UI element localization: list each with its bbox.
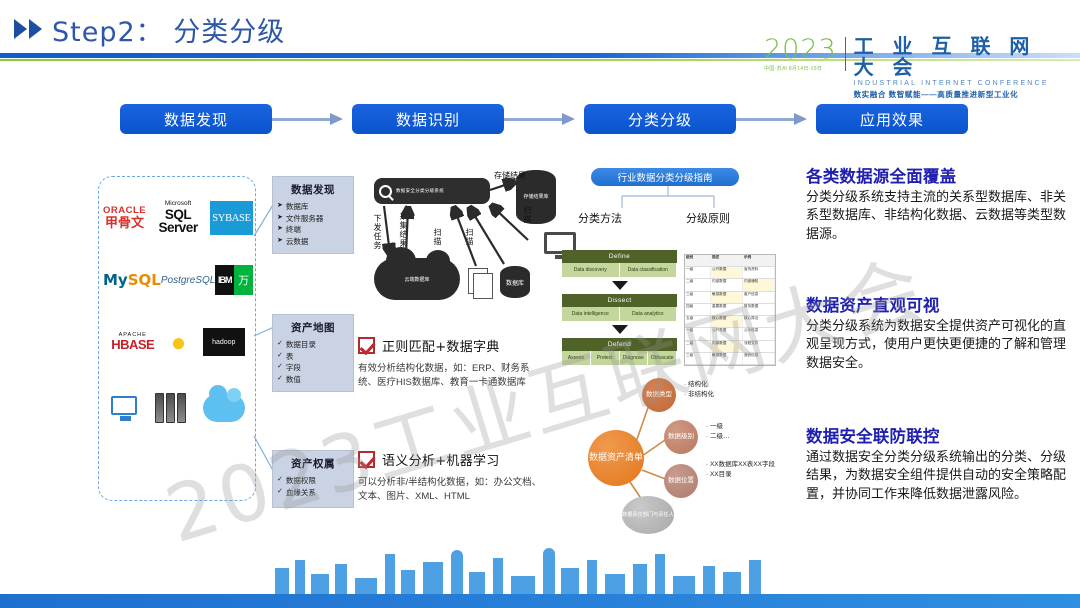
list-item: ✓数值 [277, 374, 349, 386]
box-data-discovery: 数据发现 ➤数据库 ➤文件服务器 ➤终端 ➤云数据 [272, 176, 354, 254]
cloud-icon [203, 394, 245, 422]
data-asset-mindmap: 数据资产清单 数据类型 数据级别 数据位置 数据责任部门与责任人 · 结构化 ·… [580, 372, 780, 542]
table-row: 四级重要数据财务数据 [685, 304, 775, 316]
vendor-logo-grid: ORACLE 甲骨文 Microsoft SQL Server SYBASE M… [103, 187, 253, 443]
hadoop-icon: hadoop [203, 328, 245, 356]
checkbox-icon[interactable] [358, 451, 375, 468]
framework-head: Define [562, 250, 677, 263]
ibm-db2-icon: IBM 万 [215, 265, 253, 295]
check-body: 可以分析非/半结构化数据，如：办公文档、文本、图片、XML、HTML [358, 476, 548, 504]
framework-row-defend: Defend Assess Protect Diagnose Obfuscate [562, 338, 677, 365]
mysql-icon: MySQL [103, 271, 161, 289]
mindmap-node-location: 数据位置 [664, 464, 698, 498]
list-item: ➤数据库 [277, 201, 349, 213]
table-header-row: 级别 描述 示例 [685, 255, 775, 267]
dddd-framework-stack: Define Data discovery Data classificatio… [562, 250, 677, 365]
table-row: 三级敏感数据客户信息 [685, 292, 775, 304]
mindmap-detail-type: · 结构化 · 非结构化 [684, 380, 714, 400]
mindmap-node-type: 数据类型 [642, 378, 676, 412]
box-title: 资产地图 [277, 320, 349, 335]
framework-cell: Assess [562, 351, 591, 365]
list-item: ✓字段 [277, 362, 349, 374]
mindmap-node-owner: 数据责任部门与责任人 [622, 496, 674, 534]
logo-divider [845, 37, 846, 71]
framework-cell: Data discovery [562, 263, 620, 277]
table-row: 二级内部数据内部通知 [685, 279, 775, 291]
logo-cn-name: 工 业 互 联 网 大 会 [854, 36, 1074, 78]
framework-row-define: Define Data discovery Data classificatio… [562, 250, 677, 277]
box-asset-ownership: 资产权属 ✓数据权限 ✓血缘关系 [272, 450, 354, 508]
framework-cell: Diagnose [620, 351, 649, 365]
conference-logo: 2023 中国·苏州 8月14日-15日 工 业 互 联 网 大 会 INDUS… [764, 36, 1074, 76]
flow-step-application-effect[interactable]: 应用效果 [816, 104, 968, 134]
table-row: 三级敏感数据身份信息 [685, 353, 775, 365]
vendor-logo-row: APACHE HBASE ● hadoop [103, 311, 253, 373]
page-footer [0, 544, 1080, 608]
block-body: 分类分级系统支持主流的关系型数据库、非关系型数据库、非结构化数据、云数据等类型数… [806, 189, 1072, 244]
block-heading: 各类数据源全面覆盖 [806, 163, 1072, 187]
vendor-logo-row: ORACLE 甲骨文 Microsoft SQL Server SYBASE [103, 187, 253, 249]
down-arrow-icon [612, 281, 628, 290]
scan-arrows [360, 166, 560, 316]
list-item: ✓数据目录 [277, 339, 349, 351]
column-header: 示例 [743, 255, 775, 266]
framework-cell: Protect [591, 351, 620, 365]
framework-cell: Data classification [620, 263, 678, 277]
table-row: 一级公开数据公示信息 [685, 328, 775, 340]
flow-step-data-identification[interactable]: 数据识别 [352, 104, 504, 134]
guide-label-grading-principle: 分级原则 [686, 210, 730, 226]
framework-cell: Data intelligence [562, 307, 620, 321]
column-header: 描述 [711, 255, 743, 266]
guide-label-classification-method: 分类方法 [578, 210, 622, 226]
column-header: 级别 [685, 255, 711, 266]
box-title: 数据发现 [277, 182, 349, 197]
skyline-graphic [255, 546, 775, 594]
grading-spec-table: 级别 描述 示例 一级公开数据宣传资料 二级内部数据内部通知 三级敏感数据客户信… [684, 254, 776, 366]
mindmap-node-level: 数据级别 [664, 420, 698, 454]
right-block-joint-defense: 数据安全联防联控 通过数据安全分类分级系统输出的分类、分级结果，为数据安全组件提… [806, 423, 1072, 504]
mindmap-detail-location: · XX数据库XX表XX字段 · XX目录 [706, 460, 775, 480]
oracle-icon: ORACLE 甲骨文 [103, 206, 146, 230]
framework-head: Defend [562, 338, 677, 351]
postgresql-icon: PostgreSQL [161, 275, 215, 286]
page-header: Step2： 分类分级 2023 中国·苏州 8月14日-15日 工 业 互 联… [0, 0, 1080, 58]
server-rack-icon [155, 393, 186, 423]
table-row: 二级内部数据流程文件 [685, 341, 775, 353]
framework-head: Dissect [562, 294, 677, 307]
check-item-semantic-ml: 语义分析+机器学习 可以分析非/半结构化数据，如：办公文档、文本、图片、XML、… [358, 450, 548, 504]
sqlserver-icon: Microsoft SQL Server [146, 201, 210, 235]
hbase-icon: APACHE HBASE [111, 333, 154, 352]
framework-row-dissect: Dissect Data intelligence Data analytics [562, 294, 677, 321]
block-body: 分类分级系统为数据安全提供资产可视化的直观呈现方式，使用户更快更便捷的了解和管理… [806, 318, 1072, 373]
list-item: ✓数据权限 [277, 475, 349, 487]
logo-year: 2023 [764, 36, 837, 63]
framework-cell: Obfuscate [648, 351, 677, 365]
list-item: ✓表 [277, 351, 349, 363]
table-row: 一级公开数据宣传资料 [685, 267, 775, 279]
flow-arrow-1 [272, 116, 352, 123]
block-body: 通过数据安全分类分级系统输出的分类、分级结果，为数据安全组件提供自动的安全策略配… [806, 449, 1072, 504]
mindmap-center: 数据资产清单 [588, 430, 644, 486]
play-triangle-icon [14, 16, 48, 42]
checkbox-icon[interactable] [358, 337, 375, 354]
block-heading: 数据安全联防联控 [806, 423, 1072, 447]
box-asset-map: 资产地图 ✓数据目录 ✓表 ✓字段 ✓数值 [272, 314, 354, 392]
check-item-regex-dictionary: 正则匹配+数据字典 有效分析结构化数据，如：ERP、财务系统、医疗HIS数据库、… [358, 336, 548, 390]
scan-architecture-diagram: 数据安全分类分级系统 存储结果库 云端数据库 数据库 存储结果 下发任务 采集结… [360, 166, 560, 316]
list-item: ➤文件服务器 [277, 213, 349, 225]
down-arrow-icon [612, 325, 628, 334]
page-title: Step2： 分类分级 [52, 10, 285, 49]
check-body: 有效分析结构化数据，如：ERP、财务系统、医疗HIS数据库、教育一卡通数据库 [358, 362, 548, 390]
block-heading: 数据资产直观可视 [806, 292, 1072, 316]
table-row: 五级核心数据核心算法 [685, 316, 775, 328]
logo-en-name: INDUSTRIAL INTERNET CONFERENCE [854, 80, 1074, 87]
terminal-pc-icon [111, 396, 139, 421]
box-title: 资产权属 [277, 456, 349, 471]
logo-subtitle: 数实融合 数智赋能——高质量推进新型工业化 [854, 89, 1074, 100]
mindmap-detail-level: · 一级 · 二级… [706, 422, 729, 442]
industry-guide-pill[interactable]: 行业数据分类分级指南 [591, 168, 739, 186]
list-item: ➤云数据 [277, 236, 349, 248]
data-source-panel: ORACLE 甲骨文 Microsoft SQL Server SYBASE M… [98, 176, 256, 501]
check-title: 正则匹配+数据字典 [382, 336, 500, 355]
sybase-icon: SYBASE [210, 201, 253, 235]
flow-step-classification[interactable]: 分类分级 [584, 104, 736, 134]
logo-date: 中国·苏州 8月14日-15日 [764, 65, 837, 72]
flow-arrow-2 [504, 116, 584, 123]
device-row [103, 373, 253, 443]
hive-icon: ● [171, 329, 187, 355]
vendor-logo-row: MySQL PostgreSQL IBM 万 [103, 249, 253, 311]
framework-cell: Data analytics [620, 307, 678, 321]
process-flow: 数据发现 数据识别 分类分级 应用效果 [120, 104, 968, 134]
footer-band [0, 594, 1080, 608]
list-item: ➤终端 [277, 224, 349, 236]
check-title: 语义分析+机器学习 [382, 450, 500, 469]
flow-arrow-3 [736, 116, 816, 123]
right-block-coverage: 各类数据源全面覆盖 分类分级系统支持主流的关系型数据库、非关系型数据库、非结构化… [806, 163, 1072, 244]
flow-step-data-discovery[interactable]: 数据发现 [120, 104, 272, 134]
list-item: ✓血缘关系 [277, 487, 349, 499]
right-block-visibility: 数据资产直观可视 分类分级系统为数据安全提供资产可视化的直观呈现方式，使用户更快… [806, 292, 1072, 373]
guide-branch-lines [610, 186, 730, 210]
